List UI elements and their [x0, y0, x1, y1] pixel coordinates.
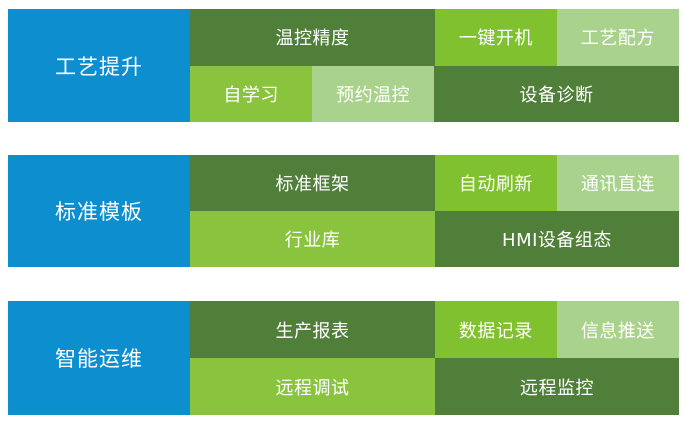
feature-cell[interactable]: 数据记录	[435, 301, 557, 358]
feature-cell[interactable]: 设备诊断	[434, 66, 679, 123]
group-cells-area: 温控精度 一键开机 工艺配方 自学习 预约温控 设备诊断	[190, 9, 679, 122]
group-top-subrow: 标准框架 自动刷新 通讯直连	[190, 155, 679, 211]
feature-cell[interactable]: 预约温控	[312, 66, 434, 123]
feature-group-row: 工艺提升 温控精度 一键开机 工艺配方 自学习 预约温控 设备诊断	[8, 9, 679, 122]
feature-cell[interactable]: 温控精度	[190, 9, 435, 66]
group-label-cell[interactable]: 工艺提升	[8, 9, 190, 122]
feature-cell[interactable]: 自动刷新	[435, 155, 557, 211]
feature-cell[interactable]: 自学习	[190, 66, 312, 123]
feature-cell[interactable]: HMI设备组态	[435, 211, 679, 267]
group-top-subrow: 生产报表 数据记录 信息推送	[190, 301, 679, 358]
feature-cell[interactable]: 信息推送	[557, 301, 679, 358]
group-label-cell[interactable]: 智能运维	[8, 301, 190, 415]
feature-cell[interactable]: 通讯直连	[557, 155, 679, 211]
feature-cell[interactable]: 一键开机	[435, 9, 557, 66]
feature-cell[interactable]: 远程调试	[190, 358, 435, 415]
group-label-cell[interactable]: 标准模板	[8, 155, 190, 267]
feature-cell[interactable]: 行业库	[190, 211, 435, 267]
feature-matrix-board: 工艺提升 温控精度 一键开机 工艺配方 自学习 预约温控 设备诊断 标准模板 标…	[0, 0, 687, 424]
group-top-subrow: 温控精度 一键开机 工艺配方	[190, 9, 679, 66]
feature-group-row: 智能运维 生产报表 数据记录 信息推送 远程调试 远程监控	[8, 301, 679, 415]
feature-cell[interactable]: 工艺配方	[557, 9, 679, 66]
group-cells-area: 生产报表 数据记录 信息推送 远程调试 远程监控	[190, 301, 679, 415]
group-bottom-subrow: 自学习 预约温控 设备诊断	[190, 66, 679, 123]
feature-cell[interactable]: 生产报表	[190, 301, 435, 358]
feature-group-row: 标准模板 标准框架 自动刷新 通讯直连 行业库 HMI设备组态	[8, 155, 679, 267]
feature-cell[interactable]: 标准框架	[190, 155, 435, 211]
group-bottom-subrow: 远程调试 远程监控	[190, 358, 679, 415]
group-bottom-subrow: 行业库 HMI设备组态	[190, 211, 679, 267]
feature-cell[interactable]: 远程监控	[435, 358, 679, 415]
group-cells-area: 标准框架 自动刷新 通讯直连 行业库 HMI设备组态	[190, 155, 679, 267]
